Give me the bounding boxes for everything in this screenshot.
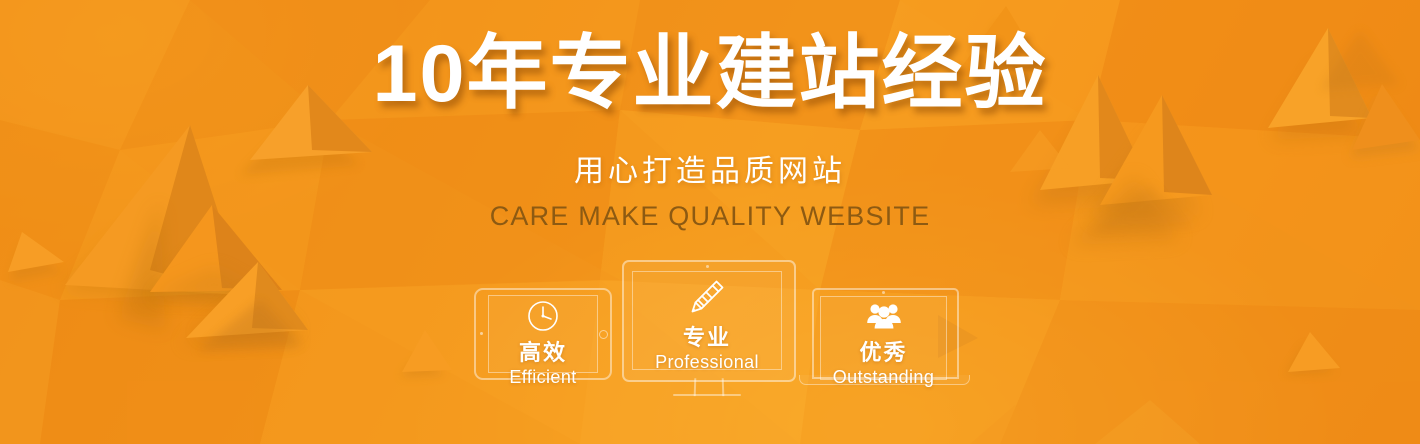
tablet-label-cn: 高效 [519,335,567,367]
pencil-icon [686,276,728,318]
tablet-home-button [599,330,608,339]
feature-card-laptop[interactable]: 优秀 Outstanding [812,288,955,386]
tablet-label-en: Efficient [509,367,576,388]
feature-card-tablet[interactable]: 高效 Efficient [474,288,612,380]
laptop-label-en: Outstanding [833,367,934,388]
clock-icon [526,299,560,333]
monitor-stand-base [673,394,741,396]
monitor-label-en: Professional [655,352,759,373]
feature-device-group: 高效 Efficient [0,0,1420,444]
tablet-camera-dot [480,332,483,335]
monitor-camera-dot [706,265,709,268]
people-group-icon [865,301,903,333]
promo-banner: 10年专业建站经验 用心打造品质网站 CARE MAKE QUALITY WEB… [0,0,1420,444]
feature-card-monitor[interactable]: 专业 Professional [622,260,792,396]
laptop-camera-dot [882,291,885,294]
laptop-label-cn: 优秀 [859,335,907,367]
monitor-label-cn: 专业 [683,320,731,352]
